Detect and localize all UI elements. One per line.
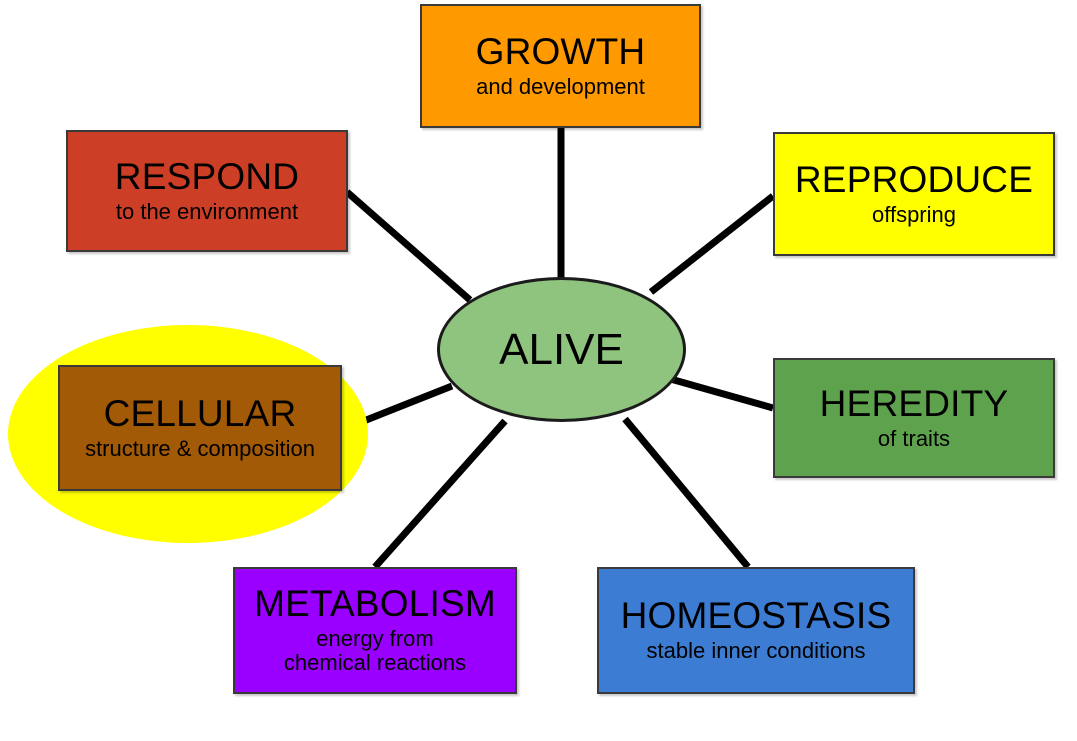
center-node-label: ALIVE: [499, 325, 624, 375]
node-cellular[interactable]: CELLULAR structure & composition: [58, 365, 342, 491]
node-heredity-title: HEREDITY: [820, 385, 1009, 423]
diagram-canvas: GROWTH and development RESPOND to the en…: [0, 0, 1077, 741]
node-homeostasis[interactable]: HOMEOSTASIS stable inner conditions: [597, 567, 915, 694]
node-cellular-subtitle: structure & composition: [85, 437, 315, 462]
connector-heredity: [667, 378, 773, 408]
connector-metabolism: [375, 421, 505, 567]
center-node-alive[interactable]: ALIVE: [437, 277, 686, 422]
node-metabolism-title: METABOLISM: [254, 585, 496, 623]
node-reproduce[interactable]: REPRODUCE offspring: [773, 132, 1055, 256]
connector-reproduce: [651, 196, 773, 292]
node-cellular-title: CELLULAR: [104, 395, 297, 433]
node-heredity[interactable]: HEREDITY of traits: [773, 358, 1055, 478]
node-heredity-subtitle: of traits: [878, 427, 950, 452]
node-respond[interactable]: RESPOND to the environment: [66, 130, 348, 252]
node-metabolism[interactable]: METABOLISM energy from chemical reaction…: [233, 567, 517, 694]
node-respond-subtitle: to the environment: [116, 200, 298, 225]
node-metabolism-subtitle: energy from chemical reactions: [284, 627, 466, 676]
node-growth[interactable]: GROWTH and development: [420, 4, 701, 128]
node-growth-title: GROWTH: [476, 33, 646, 71]
connector-homeostasis: [625, 419, 748, 567]
connector-respond: [347, 192, 470, 300]
node-reproduce-title: REPRODUCE: [795, 161, 1033, 199]
node-homeostasis-title: HOMEOSTASIS: [621, 597, 892, 635]
node-homeostasis-subtitle: stable inner conditions: [647, 639, 866, 664]
node-respond-title: RESPOND: [115, 158, 299, 196]
node-reproduce-subtitle: offspring: [872, 203, 956, 228]
node-growth-subtitle: and development: [476, 75, 645, 100]
